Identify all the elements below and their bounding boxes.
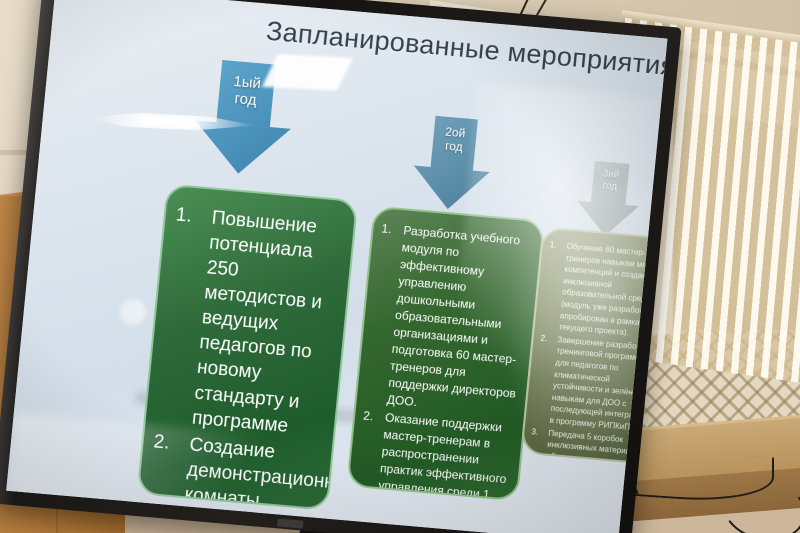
screen-vignette — [6, 0, 667, 533]
tv-screen[interactable]: Запланированные мероприятия 1ый год — [6, 0, 667, 533]
television[interactable]: Запланированные мероприятия 1ый год — [0, 0, 682, 533]
presentation-slide: Запланированные мероприятия 1ый год — [6, 0, 667, 533]
room-scene: Запланированные мероприятия 1ый год — [0, 0, 800, 533]
